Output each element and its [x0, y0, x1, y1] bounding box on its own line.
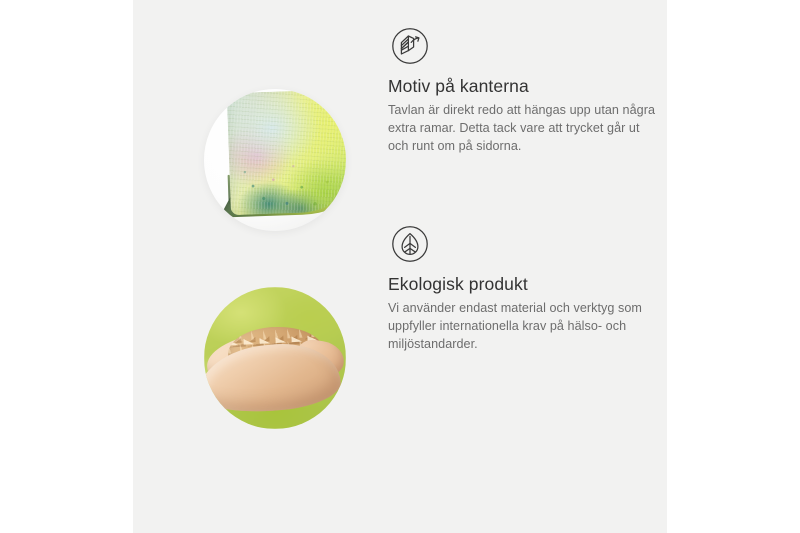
- feature-description: Vi använder endast material och verktyg …: [388, 300, 660, 354]
- feature-description: Tavlan är direkt redo att hängas upp uta…: [388, 102, 660, 156]
- gray-content-panel: Motiv på kanterna Tavlan är direkt redo …: [133, 0, 667, 533]
- leaf-icon: [388, 222, 432, 266]
- product-feature-panel: Motiv på kanterna Tavlan är direkt redo …: [0, 0, 800, 533]
- feature-title: Ekologisk produkt: [388, 274, 660, 295]
- feature-title: Motiv på kanterna: [388, 76, 660, 97]
- feature-row-eco-product: Ekologisk produkt Vi använder endast mat…: [133, 198, 667, 448]
- canvas-front-face: [227, 89, 346, 215]
- feature-text-eco-product: Ekologisk produkt Vi använder endast mat…: [388, 274, 660, 354]
- feature-text-canvas-edges: Motiv på kanterna Tavlan är direkt redo …: [388, 76, 660, 156]
- canvas-wrapped-edges-icon: [388, 24, 432, 68]
- hands-holding-wood-chips-photo: [204, 287, 346, 429]
